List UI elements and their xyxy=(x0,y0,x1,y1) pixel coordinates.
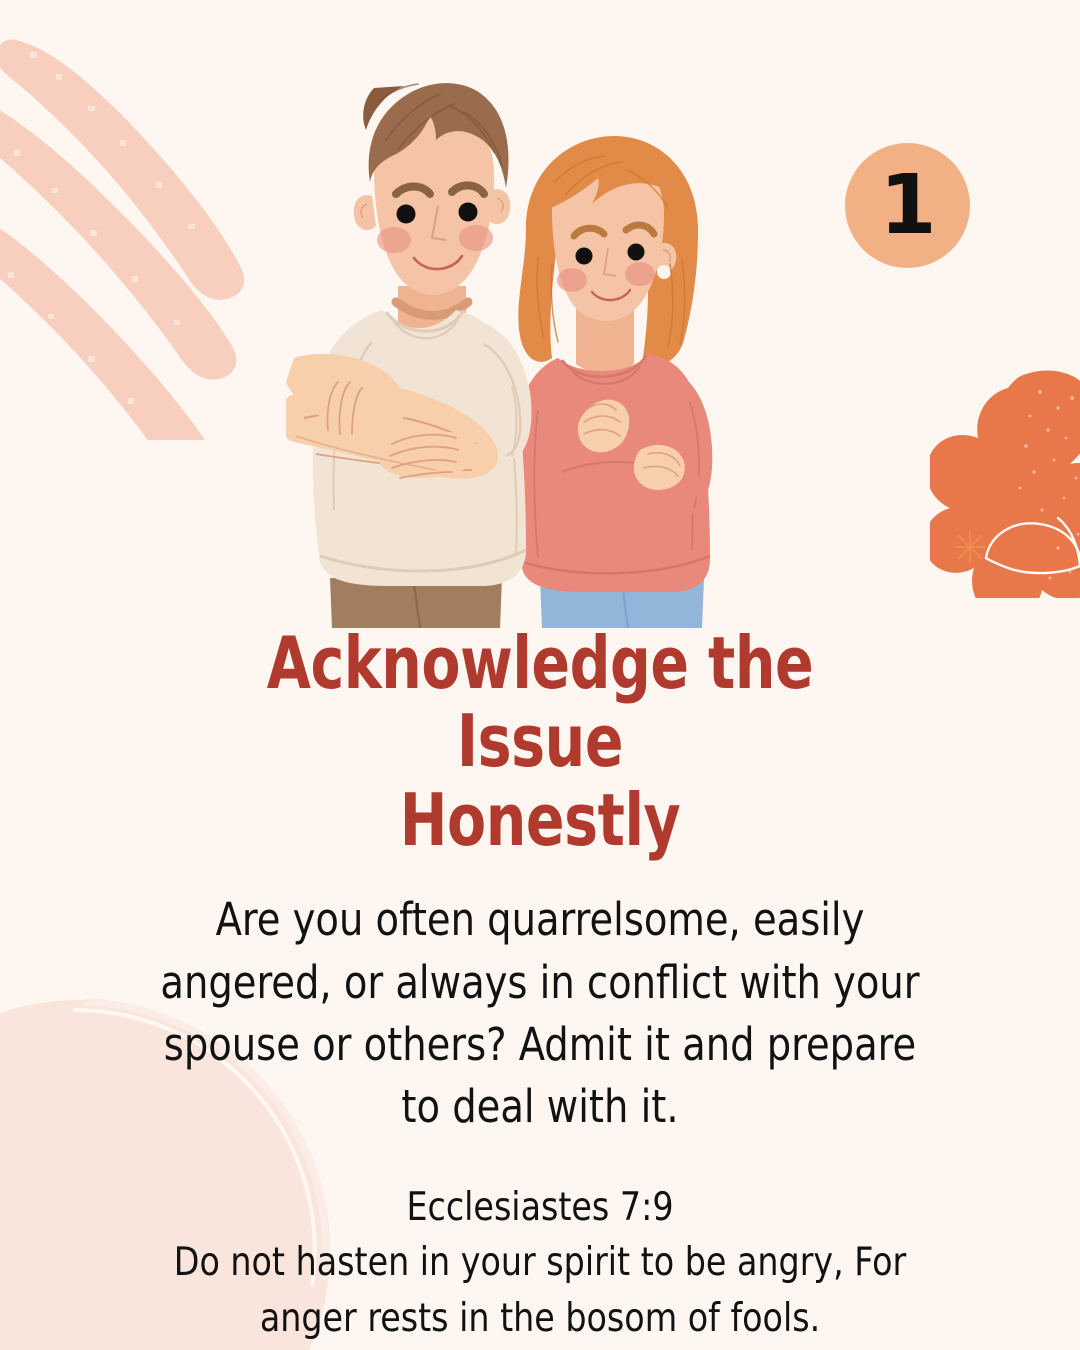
verse-line-2: anger rests in the bosom of fools. xyxy=(132,1291,949,1346)
step-number-badge: 1 xyxy=(845,143,970,268)
text-content-block: Acknowledge the Issue Honestly Are you o… xyxy=(0,624,1080,1346)
flower-blob-decoration xyxy=(930,368,1080,598)
poster-canvas: 1 xyxy=(0,0,1080,1350)
title-line-1: Acknowledge the Issue xyxy=(267,621,813,783)
sparkle-icon xyxy=(950,527,990,567)
body-paragraph: Are you often quarrelsome, easily angere… xyxy=(151,889,930,1137)
title-line-2: Honestly xyxy=(400,778,680,862)
scripture-block: Ecclesiastes 7:9 Do not hasten in your s… xyxy=(132,1180,949,1346)
step-number-value: 1 xyxy=(879,165,935,247)
couple-illustration xyxy=(286,58,756,628)
page-title: Acknowledge the Issue Honestly xyxy=(175,624,905,859)
verse-line-1: Do not hasten in your spirit to be angry… xyxy=(132,1235,949,1290)
verse-reference: Ecclesiastes 7:9 xyxy=(132,1180,949,1235)
